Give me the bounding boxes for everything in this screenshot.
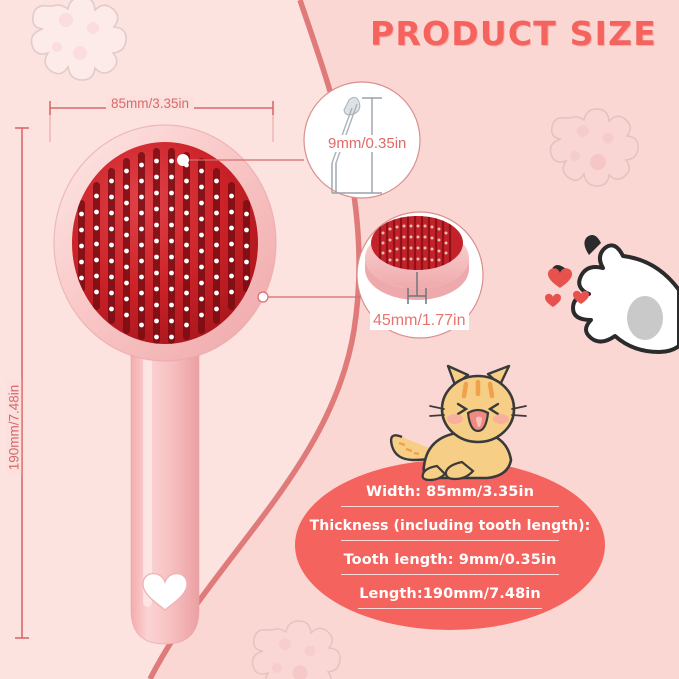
head-diameter-label: 45mm/1.77in [370, 312, 469, 330]
callout-anchor-tooth [177, 154, 189, 166]
spec-list: Width: 85mm/3.35in Thickness (including … [306, 484, 594, 620]
page-title: PRODUCT SIZE [370, 14, 657, 53]
spec-row-length: Length:190mm/7.48in [306, 586, 594, 609]
width-dimension-label: 85mm/3.35in [106, 96, 194, 111]
infographic-canvas: PRODUCT SIZE 85mm/3.35in 190mm/7.48in 9m… [0, 0, 679, 679]
callout-anchor-head [258, 292, 268, 302]
tooth-length-label: 9mm/0.35in [325, 135, 409, 152]
height-dimension-label: 190mm/7.48in [6, 380, 21, 476]
spec-row-width: Width: 85mm/3.35in [306, 484, 594, 507]
spec-row-thickness: Thickness (including tooth length): [306, 518, 594, 541]
spec-row-tooth: Tooth length: 9mm/0.35in [306, 552, 594, 575]
